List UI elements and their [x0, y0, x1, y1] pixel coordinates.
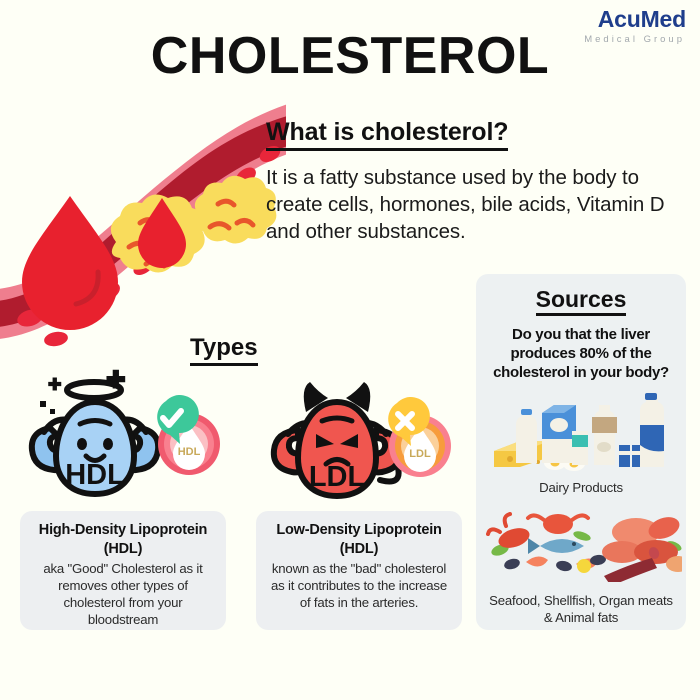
- lobster-claws: [488, 514, 510, 534]
- cup-band: [619, 451, 630, 455]
- cream-bottle: [516, 411, 537, 463]
- badge-droplet-label: HDL: [178, 446, 201, 458]
- ldl-body-label: LDL: [309, 461, 365, 493]
- small-carton-band: [572, 435, 588, 447]
- hdl-card-body: aka "Good" Cholesterol as it removes oth…: [30, 561, 216, 629]
- lemon: [577, 559, 591, 573]
- source-item-seafood: Seafood, Shellfish, Organ meats & Animal…: [486, 502, 676, 626]
- mussel: [503, 557, 521, 571]
- page-title: CHOLESTEROL: [0, 26, 700, 86]
- tall-bottle: [594, 405, 615, 465]
- ldl-info-card: Low-Density Lipoprotein (HDL) known as t…: [256, 511, 462, 630]
- carton-label: [550, 418, 568, 432]
- what-is-heading: What is cholesterol?: [266, 118, 508, 151]
- hdl-character-svg: HDL HDL: [16, 362, 231, 507]
- source-item-dairy: Dairy Products: [486, 389, 676, 497]
- ldl-card-title: Low-Density Lipoprotein (HDL): [266, 521, 452, 558]
- sources-question: Do you that the liver produces 80% of th…: [486, 326, 676, 383]
- fish: [540, 539, 584, 553]
- bottle-cap: [521, 409, 532, 415]
- plaque-blob-2: [195, 176, 277, 244]
- fish-tail: [528, 538, 540, 554]
- mussel: [555, 560, 573, 573]
- hdl-info-card: High-Density Lipoprotein (HDL) aka "Good…: [20, 511, 226, 630]
- plaque-deposit-2: [195, 176, 277, 244]
- ldl-character: LDL LDL: [258, 368, 463, 506]
- infographic-page: AcuMed Medical Group CHOLESTEROL: [0, 0, 700, 700]
- sources-panel: Sources Do you that the liver produces 8…: [476, 274, 686, 630]
- dairy-products-art: [488, 389, 674, 475]
- what-is-section: What is cholesterol? It is a fatty subst…: [266, 118, 684, 245]
- hdl-body-label: HDL: [65, 459, 125, 491]
- badge-droplet-label: LDL: [409, 448, 431, 460]
- shrimp: [526, 557, 548, 567]
- ldl-character-svg: LDL LDL: [258, 368, 463, 506]
- seafood-meats-art: [486, 502, 682, 582]
- carton-panel: [542, 439, 576, 463]
- halo-icon: [67, 382, 121, 398]
- right-eye: [103, 438, 113, 450]
- tall-bottle-label: [592, 417, 617, 433]
- dairy-label: Dairy Products: [486, 480, 676, 497]
- artery-svg: [0, 96, 286, 366]
- fish-eye: [572, 542, 576, 546]
- blood-drop-large: [22, 196, 118, 330]
- crab-body: [543, 514, 573, 534]
- cheese-hole: [507, 456, 513, 462]
- big-bottle-cap: [645, 393, 657, 400]
- big-bottle-label: [640, 425, 664, 451]
- tall-bottle-mark: [597, 442, 611, 452]
- hdl-card-title: High-Density Lipoprotein (HDL): [30, 521, 216, 558]
- sources-heading: Sources: [536, 286, 627, 316]
- ldl-card-body: known as the "bad" cholesterol as it con…: [266, 561, 452, 612]
- yogurt-cup: [619, 445, 630, 467]
- seafood-label: Seafood, Shellfish, Organ meats & Animal…: [486, 593, 676, 626]
- left-eye: [77, 438, 87, 450]
- artery-illustration: [0, 96, 286, 366]
- hdl-character: HDL HDL: [16, 362, 231, 507]
- what-is-body: It is a fatty substance used by the body…: [266, 164, 684, 245]
